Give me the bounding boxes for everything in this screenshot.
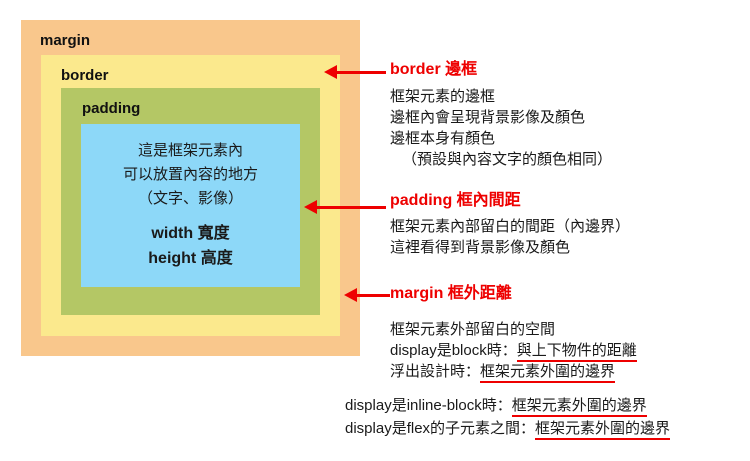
content-line-3: （文字、影像） — [81, 187, 300, 211]
padding-layer-label: padding — [82, 101, 140, 116]
padding-annotation-line-2: 這裡看得到背景影像及顏色 — [390, 237, 630, 258]
margin-layer: margin border padding 這是框架元素內 可以放置內容的地方 … — [21, 20, 360, 356]
margin-annotation-line-2-emphasis: 與上下物件的距離 — [517, 342, 637, 362]
arrow-shaft — [314, 206, 386, 209]
content-line-2: 可以放置內容的地方 — [81, 163, 300, 187]
border-annotation-line-2: 邊框內會呈現背景影像及顏色 — [390, 107, 612, 128]
margin-annotation-line-1-text: 框架元素外部留白的空間 — [390, 321, 555, 338]
box-model-diagram: margin border padding 這是框架元素內 可以放置內容的地方 … — [21, 20, 360, 356]
padding-annotation: padding 框內間距 框架元素內部留白的間距（內邊界） 這裡看得到背景影像及… — [390, 191, 630, 258]
margin-annotation-line-3: 浮出設計時：框架元素外圍的邊界 — [390, 361, 637, 382]
footnote-line-2-emphasis: 框架元素外圍的邊界 — [535, 420, 670, 440]
content-height-label: height 高度 — [81, 246, 300, 271]
border-annotation: border 邊框 框架元素的邊框 邊框內會呈現背景影像及顏色 邊框本身有顏色 … — [390, 60, 612, 170]
border-annotation-body: 框架元素的邊框 邊框內會呈現背景影像及顏色 邊框本身有顏色 （預設與內容文字的顏… — [390, 86, 612, 170]
content-dimensions: width 寬度 height 高度 — [81, 221, 300, 271]
margin-annotation-line-2: display是block時：與上下物件的距離 — [390, 340, 637, 361]
footnote-line-1-prefix: display是inline-block時： — [345, 397, 512, 414]
margin-annotation-line-2-prefix: display是block時： — [390, 342, 517, 359]
margin-annotation-line-3-emphasis: 框架元素外圍的邊界 — [480, 363, 615, 383]
arrow-to-margin-icon — [344, 287, 390, 303]
border-annotation-line-3: 邊框本身有顏色 — [390, 128, 612, 149]
footnote-line-2-prefix: display是flex的子元素之間： — [345, 420, 535, 437]
content-description: 這是框架元素內 可以放置內容的地方 （文字、影像） — [81, 139, 300, 211]
arrow-to-padding-icon — [304, 199, 386, 215]
content-layer: 這是框架元素內 可以放置內容的地方 （文字、影像） width 寬度 heigh… — [81, 124, 300, 287]
border-layer-label: border — [61, 68, 109, 83]
margin-layer-label: margin — [40, 33, 90, 48]
padding-layer: padding 這是框架元素內 可以放置內容的地方 （文字、影像） width … — [61, 88, 320, 315]
content-line-1: 這是框架元素內 — [81, 139, 300, 163]
padding-annotation-heading: padding 框內間距 — [390, 191, 630, 211]
arrow-shaft — [354, 294, 390, 297]
padding-annotation-body: 框架元素內部留白的間距（內邊界） 這裡看得到背景影像及顏色 — [390, 216, 630, 258]
margin-annotation: margin 框外距離 框架元素外部留白的空間 display是block時：與… — [390, 284, 637, 382]
border-annotation-line-1: 框架元素的邊框 — [390, 86, 612, 107]
border-annotation-heading: border 邊框 — [390, 60, 612, 80]
footnote-line-1-emphasis: 框架元素外圍的邊界 — [512, 397, 647, 417]
arrow-to-border-icon — [324, 64, 386, 80]
footnote-line-1: display是inline-block時：框架元素外圍的邊界 — [345, 394, 670, 417]
margin-annotation-heading: margin 框外距離 — [390, 284, 637, 304]
margin-annotation-line-3-prefix: 浮出設計時： — [390, 363, 480, 380]
border-layer: border padding 這是框架元素內 可以放置內容的地方 （文字、影像）… — [41, 55, 340, 336]
padding-annotation-line-1: 框架元素內部留白的間距（內邊界） — [390, 216, 630, 237]
margin-annotation-line-1: 框架元素外部留白的空間 — [390, 319, 637, 340]
footnote-line-2: display是flex的子元素之間：框架元素外圍的邊界 — [345, 417, 670, 440]
content-width-label: width 寬度 — [81, 221, 300, 246]
footnotes: display是inline-block時：框架元素外圍的邊界 display是… — [345, 394, 670, 440]
border-annotation-line-4: （預設與內容文字的顏色相同） — [390, 149, 612, 170]
margin-annotation-body: 框架元素外部留白的空間 display是block時：與上下物件的距離 浮出設計… — [390, 319, 637, 382]
arrow-shaft — [334, 71, 386, 74]
